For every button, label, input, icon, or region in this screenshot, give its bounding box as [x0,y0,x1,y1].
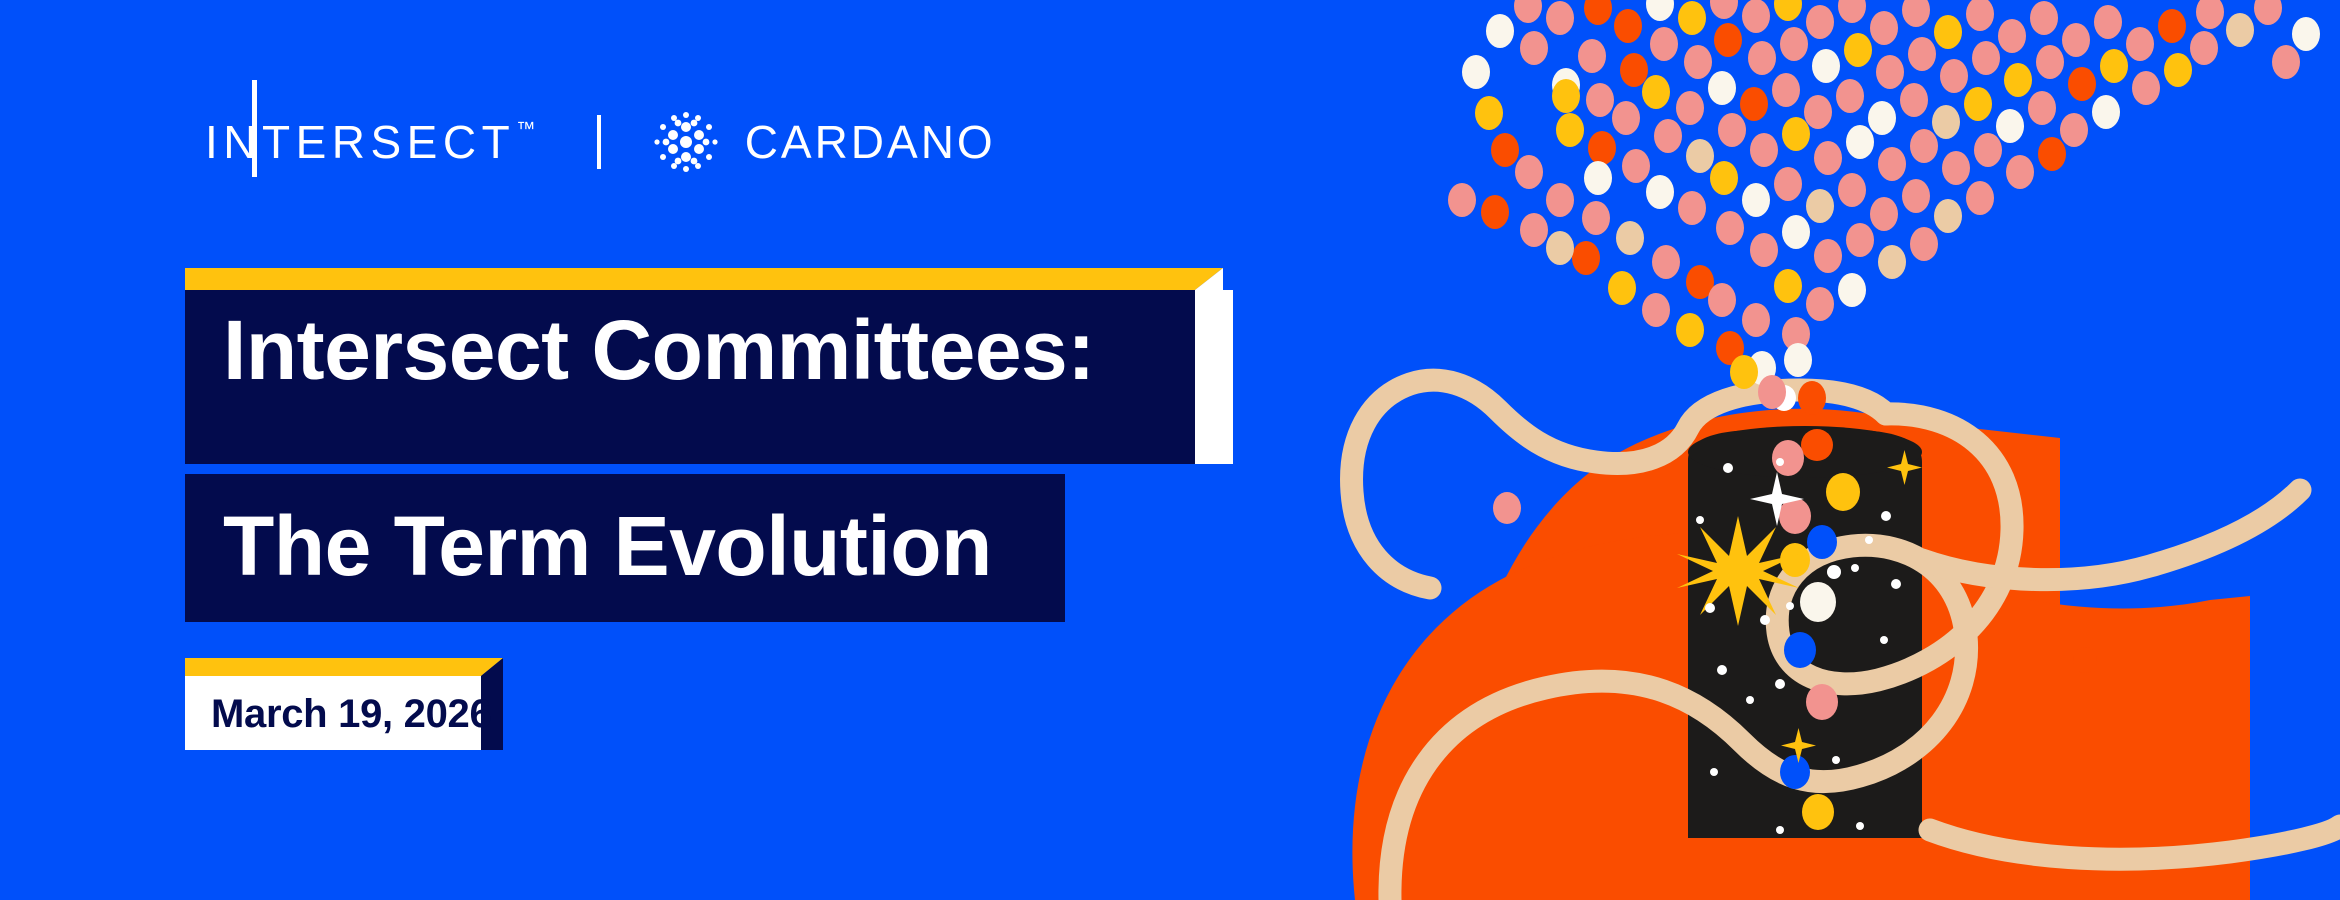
tan-winding-path [1352,380,2340,900]
starry-portal [1688,426,1922,838]
title-line2: The Term Evolution [223,498,992,595]
portal-confetti [1772,429,1860,830]
title-line2-block: The Term Evolution [185,474,1233,622]
title-stack: Intersect Committees: The Term Evolution… [185,268,1233,768]
title-line1-block: Intersect Committees: [185,268,1233,464]
confetti-cloud [1448,0,2320,415]
title-line1: Intersect Committees: [223,302,1095,399]
title-side-panel [1195,290,1233,464]
date-label: March 19, 2026 [211,692,491,737]
orange-landform [1352,409,2250,900]
date-badge: March 19, 2026 [185,658,515,768]
intersect-logo[interactable]: INTERSECT ™ [205,119,535,165]
date-shadow-bevel [481,658,503,676]
intersect-trademark-icon: ™ [516,120,536,139]
starburst-icon [1677,516,1799,626]
stray-confetti [1493,385,2097,673]
event-banner: INTERSECT ™ [0,0,2340,900]
cardano-wordmark: CARDANO [745,119,996,165]
logo-divider [597,115,601,169]
title-side-bevel [1195,268,1223,290]
title-accent-bar-top [185,268,1195,290]
portal-star-dots [1696,463,1901,834]
sparkle-icons-yellow [1781,450,1922,763]
cardano-dot-logo-icon [653,109,719,175]
sparkle-icons [1750,472,1804,526]
cardano-logo[interactable]: CARDANO [653,109,996,175]
date-accent-bar-top [185,658,481,676]
intersect-i-bar-icon [252,80,257,177]
logo-row: INTERSECT ™ [205,112,996,172]
